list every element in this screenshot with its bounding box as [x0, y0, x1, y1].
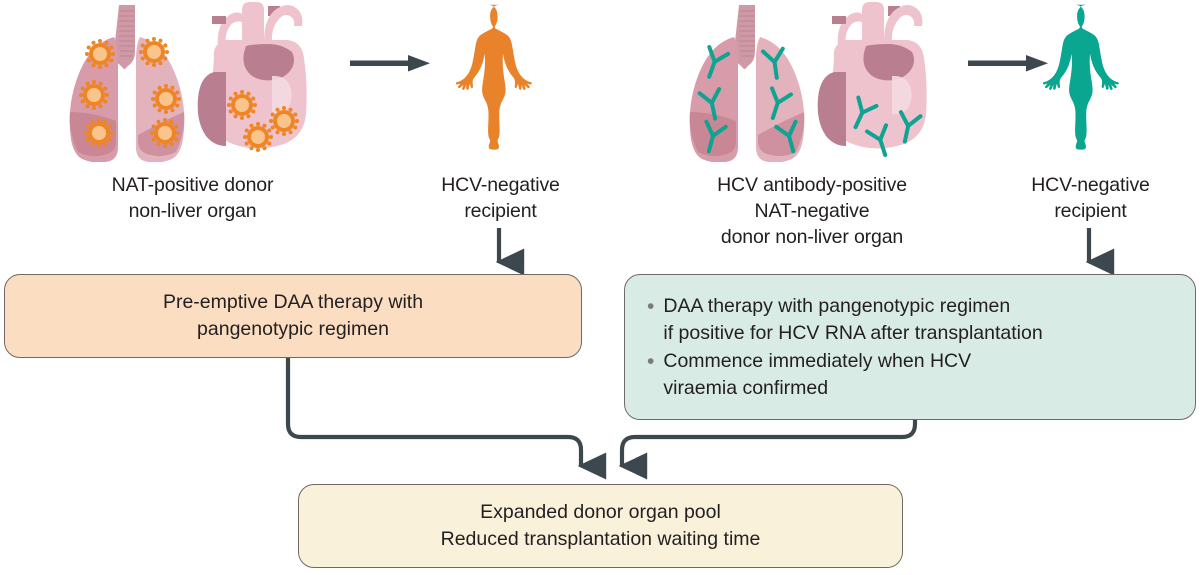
preemptive-therapy-box: Pre-emptive DAA therapy with pangenotypi… [4, 274, 582, 358]
right-donor-caption: HCV antibody-positive NAT-negative donor… [652, 172, 972, 250]
daa-therapy-box: • DAA therapy with pangenotypic regimen … [624, 274, 1196, 420]
lungs-icon [690, 5, 805, 162]
bullet-marker-icon: • [647, 348, 654, 375]
left-box-connector [288, 358, 581, 466]
list-item: • Commence immediately when HCV viraemia… [647, 348, 1185, 402]
bullet-marker-icon: • [647, 293, 654, 320]
daa-bullet-2-text: Commence immediately when HCV viraemia c… [663, 348, 1185, 402]
left-recipient-person [455, 3, 545, 166]
outcome-box: Expanded donor organ pool Reduced transp… [298, 484, 903, 568]
left-donor-organ-illustration [62, 2, 322, 162]
hcv-transplant-pathway-figure: NAT-positive donor non-liver organ HCV-n… [0, 0, 1200, 575]
right-donor-organ-illustration [682, 2, 942, 162]
daa-bullet-list: • DAA therapy with pangenotypic regimen … [625, 292, 1195, 403]
preemptive-therapy-text: Pre-emptive DAA therapy with pangenotypi… [163, 289, 423, 343]
right-recipient-caption: HCV-negative recipient [983, 172, 1198, 224]
daa-bullet-1-text: DAA therapy with pangenotypic regimen if… [663, 293, 1185, 347]
list-item: • DAA therapy with pangenotypic regimen … [647, 293, 1185, 347]
left-recipient-caption: HCV-negative recipient [393, 172, 608, 224]
outcome-text: Expanded donor organ pool Reduced transp… [441, 499, 761, 553]
human-body-icon [1043, 5, 1119, 150]
left-donor-caption: NAT-positive donor non-liver organ [40, 172, 345, 224]
right-recipient-person [1042, 3, 1132, 166]
human-body-icon [456, 5, 532, 150]
right-box-connector [622, 419, 915, 466]
right-arrow-icon [350, 55, 430, 72]
left-transfer-arrow [350, 50, 440, 85]
right-arrow-icon [968, 55, 1048, 72]
